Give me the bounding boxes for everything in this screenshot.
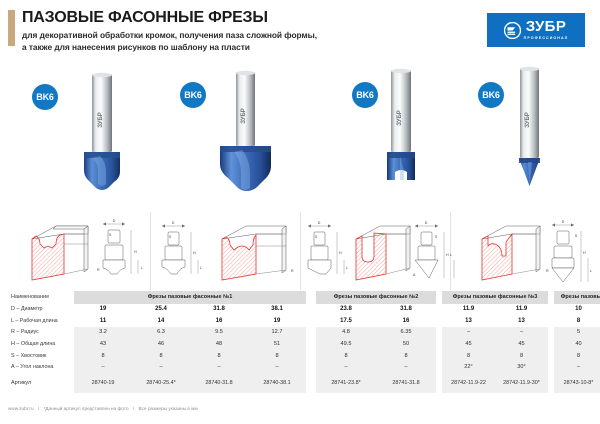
cell-R-g1-c1: 3.2 [74,327,132,339]
svg-text:S: S [435,235,438,239]
svg-text:L: L [200,266,202,270]
cell-article-g2-c1: 28741-23.8* [316,373,376,393]
cell-H-g1-c4: 51 [248,338,306,350]
row-label-H: H – Общая длина [8,338,74,350]
column-group-gap [306,315,316,327]
profile-section-diagram-2: D S H L R [150,212,300,290]
cell-S-g1-c1: 8 [74,350,132,362]
svg-text:H: H [339,251,342,255]
diagram-cell-4: L [450,212,600,290]
cell-article-g4-c1: 28743-10-8* [554,373,600,393]
brand-logo: ЗУБР ПРОФЕССИОНАЛ [487,13,585,47]
svg-text:A: A [413,273,416,277]
svg-text:ЗУБР: ЗУБР [525,112,531,128]
cell-H-g1-c1: 43 [74,338,132,350]
cell-A-g1-c4: – [248,361,306,373]
product-cell-3: BK6 [300,62,450,210]
svg-text:S: S [575,234,578,238]
cell-R-g1-c3: 9.5 [190,327,248,339]
table-row: A – Угол наклона––––––22°30°–– [8,361,600,373]
accent-bar [8,10,15,46]
group-header-4: Фрезы пазовые фасонные №4 [554,291,600,304]
cell-D-g1-c4: 38.1 [248,304,306,316]
table-row: R – Радиус3.26.39.512.74.86.35––510 [8,327,600,339]
footer-note-units: Все размеры указаны в мм [139,406,198,411]
cell-article-g3-c2: 28742-11.9-30* [495,373,548,393]
technical-diagram-row: D S H L R [0,212,600,290]
diagram-cell-2: D S H L R [150,212,300,290]
table-row: L – Рабочая длина1114161917.5161313813 [8,315,600,327]
cell-A-g4-c1: – [554,361,600,373]
cell-H-g3-c1: 45 [442,338,495,350]
row-label-S: S – Хвостовик [8,350,74,362]
cell-L-g1-c1: 11 [74,315,132,327]
svg-text:D: D [172,221,175,225]
material-badge-3: BK6 [352,82,378,108]
cell-D-g3-c1: 11.9 [442,304,495,316]
table-article-row: Артикул28740-1928740-25.4*28740-31.82874… [8,373,600,393]
svg-text:L: L [141,266,143,270]
profile-section-diagram-4: L [450,212,600,290]
svg-text:R: R [97,268,100,272]
router-bit-1-image: ЗУБР [72,72,132,200]
cell-H-g1-c3: 48 [190,338,248,350]
router-bit-4-image: ЗУБР [506,64,552,196]
footer-separator-1: / [35,406,42,411]
cell-A-g2-c2: – [376,361,436,373]
cell-H-g4-c1: 40 [554,338,600,350]
svg-text:D: D [318,221,321,225]
group-header-2: Фрезы пазовые фасонные №2 [316,291,436,304]
row-label-R: R – Радиус [8,327,74,339]
cell-S-g1-c2: 8 [132,350,190,362]
column-group-gap [306,304,316,316]
page-subtitle-line1: для декоративной обработки кромок, получ… [22,30,317,40]
svg-text:L: L [590,269,592,273]
svg-text:H: H [583,251,586,255]
spec-table: НаименованиеФрезы пазовые фасонные №1Фре… [8,291,600,393]
column-group-gap [306,361,316,373]
cell-H-g2-c2: 50 [376,338,436,350]
cell-L-g1-c4: 19 [248,315,306,327]
cell-article-g1-c1: 28740-19 [74,373,132,393]
cell-S-g3-c1: 8 [442,350,495,362]
page-header: ПАЗОВЫЕ ФАСОННЫЕ ФРЕЗЫ для декоративной … [0,0,600,62]
row-label-A: A – Угол наклона [8,361,74,373]
table-row: D – Диаметр1925.431.838.123.831.811.911.… [8,304,600,316]
cell-D-g1-c1: 19 [74,304,132,316]
cell-L-g4-c1: 8 [554,315,600,327]
router-bit-3-image: ЗУБР [378,68,424,198]
cell-D-g2-c1: 23.8 [316,304,376,316]
cell-D-g1-c3: 31.8 [190,304,248,316]
profile-section-diagram-1: D S H L R [0,212,150,290]
cell-D-g4-c1: 10 [554,304,600,316]
page-footer: www.zubr.ru / *Данный артикул представле… [8,406,198,411]
cell-R-g4-c1: 5 [554,327,600,339]
cell-A-g1-c1: – [74,361,132,373]
svg-text:ЗУБР: ЗУБР [241,108,247,124]
svg-text:D: D [425,221,428,225]
svg-text:R: R [546,269,549,273]
svg-text:ЗУБР: ЗУБР [98,112,104,128]
table-row: S – Хвостовик88888888812 [8,350,600,362]
table-row: H – Общая длина4346485149.55045454048 [8,338,600,350]
spec-table-body: НаименованиеФрезы пазовые фасонные №1Фре… [8,291,600,393]
svg-text:H: H [193,251,196,255]
product-cell-1: BK6 [0,62,150,210]
cell-D-g2-c2: 31.8 [376,304,436,316]
cell-article-g2-c2: 28741-31.8 [376,373,436,393]
diagram-cell-1: D S H L R [0,212,150,290]
column-group-gap [306,327,316,339]
column-group-gap [306,291,316,304]
product-cell-4: BK6 [450,62,600,210]
group-header-1: Фрезы пазовые фасонные №1 [74,291,306,304]
material-badge-2: BK6 [180,82,206,108]
row-label-D: D – Диаметр [8,304,74,316]
zubr-arrow-mark-icon [504,22,521,39]
table-group-header-row: НаименованиеФрезы пазовые фасонные №1Фре… [8,291,600,304]
cell-D-g3-c2: 11.9 [495,304,548,316]
svg-text:D: D [113,219,116,223]
profile-section-diagram-3: D S H L [300,212,450,290]
cell-H-g3-c2: 45 [495,338,548,350]
svg-text:L: L [450,253,452,257]
row-label-L: L – Рабочая длина [8,315,74,327]
table-corner-header: Наименование [8,291,74,304]
cell-A-g1-c3: – [190,361,248,373]
cell-R-g1-c4: 12.7 [248,327,306,339]
svg-text:D: D [562,220,565,224]
cell-R-g2-c1: 4.8 [316,327,376,339]
cell-article-g3-c1: 28742-11.9-22 [442,373,495,393]
page-subtitle-line2: а также для нанесения рисунков по шаблон… [22,42,250,52]
cell-L-g2-c2: 16 [376,315,436,327]
cell-D-g1-c2: 25.4 [132,304,190,316]
row-label-article: Артикул [8,373,74,393]
cell-R-g1-c2: 6.3 [132,327,190,339]
cell-article-g1-c4: 28740-38.1 [248,373,306,393]
cell-article-g1-c3: 28740-31.8 [190,373,248,393]
product-image-row: BK6 [0,62,600,210]
svg-text:R: R [291,269,294,273]
footer-separator-2: / [130,406,137,411]
cell-R-g2-c2: 6.35 [376,327,436,339]
cell-A-g3-c2: 30° [495,361,548,373]
diagram-cell-3: D S H L [300,212,450,290]
svg-text:H: H [446,253,449,257]
cell-S-g2-c1: 8 [316,350,376,362]
cell-S-g3-c2: 8 [495,350,548,362]
cell-A-g3-c1: 22° [442,361,495,373]
specifications-table: НаименованиеФрезы пазовые фасонные №1Фре… [8,291,592,393]
material-badge-4: BK6 [478,82,504,108]
cell-L-g2-c1: 17.5 [316,315,376,327]
svg-text:L: L [346,266,348,270]
column-group-gap [306,338,316,350]
cell-L-g3-c1: 13 [442,315,495,327]
cell-L-g1-c3: 16 [190,315,248,327]
cell-A-g1-c2: – [132,361,190,373]
cell-R-g3-c1: – [442,327,495,339]
cell-S-g1-c4: 8 [248,350,306,362]
cell-L-g1-c2: 14 [132,315,190,327]
material-badge-1: BK6 [32,84,58,110]
logo-brand-text: ЗУБР [526,19,567,34]
catalog-page: ПАЗОВЫЕ ФАСОННЫЕ ФРЕЗЫ для декоративной … [0,0,600,424]
page-title: ПАЗОВЫЕ ФАСОННЫЕ ФРЕЗЫ [22,9,268,27]
cell-article-g1-c2: 28740-25.4* [132,373,190,393]
product-cell-2: BK6 [150,62,300,210]
cell-H-g2-c1: 49.5 [316,338,376,350]
svg-text:ЗУБР: ЗУБР [397,110,403,126]
logo-tagline-text: ПРОФЕССИОНАЛ [524,35,569,41]
cell-L-g3-c2: 13 [495,315,548,327]
cell-A-g2-c1: – [316,361,376,373]
cell-S-g2-c2: 8 [376,350,436,362]
column-group-gap [306,350,316,362]
footer-site[interactable]: www.zubr.ru [8,406,34,411]
cell-S-g1-c3: 8 [190,350,248,362]
cell-S-g4-c1: 8 [554,350,600,362]
router-bit-2-image: ЗУБР [212,70,278,200]
group-header-3: Фрезы пазовые фасонные №3 [442,291,548,304]
cell-H-g1-c2: 46 [132,338,190,350]
column-group-gap [306,373,316,393]
cell-R-g3-c2: – [495,327,548,339]
footer-note-article: *Данный артикул представлен на фото [44,406,129,411]
svg-text:H: H [134,250,137,254]
